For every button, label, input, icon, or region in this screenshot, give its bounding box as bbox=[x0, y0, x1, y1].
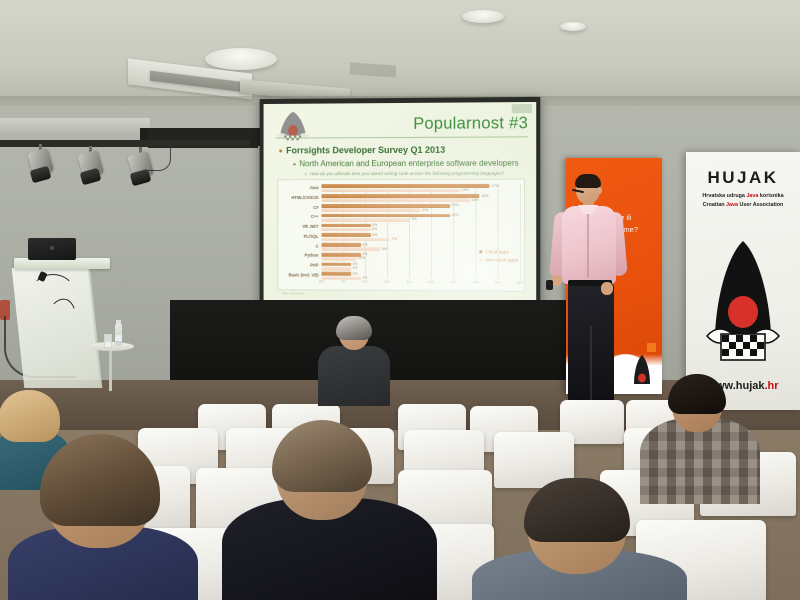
chart-category-label: HTML/CSS/JS bbox=[291, 195, 318, 200]
chart-category-label: PHP bbox=[310, 263, 319, 268]
chart-bar-cloud bbox=[322, 204, 450, 208]
attendee-hair bbox=[336, 316, 372, 340]
bullet-dot-icon bbox=[293, 163, 295, 165]
legend-item-cloud: Cloud apps bbox=[479, 248, 518, 256]
chart-bar-cloud bbox=[322, 233, 371, 237]
attendee-hair bbox=[40, 434, 160, 526]
hujak-duke-logo-icon bbox=[273, 110, 312, 148]
seated-attendee-stage bbox=[316, 318, 392, 404]
chart-x-tick-label: 16% bbox=[494, 281, 501, 285]
slide-bullet-2: North American and European enterprise s… bbox=[293, 159, 519, 169]
chart-plot-area: Java17%14%HTML/CSS/JS16%15%C#13%10%C++13… bbox=[322, 184, 520, 279]
chart-x-tick-label: 10% bbox=[428, 280, 435, 284]
chart-x-tick-label: 18% bbox=[516, 281, 523, 285]
hujak-en-prefix: Croatian bbox=[703, 202, 726, 208]
ceiling-light-icon bbox=[462, 10, 504, 23]
chart-bar-row: HTML/CSS/JS16%15% bbox=[322, 194, 520, 203]
chart-bar-noncloud bbox=[322, 266, 351, 270]
presenter-remote-icon bbox=[546, 280, 553, 290]
ceiling-light-icon bbox=[205, 48, 277, 70]
speaker-shirt bbox=[562, 206, 616, 284]
chart-bar-row: VB .NET5%5% bbox=[322, 223, 520, 233]
legend-label-noncloud: Non-cloud apps bbox=[485, 257, 518, 262]
chart-source-note: Base: developers bbox=[282, 291, 304, 295]
speaker-person bbox=[552, 176, 628, 416]
speaker-right-hand bbox=[601, 282, 613, 295]
chart-value-label: 3% bbox=[352, 272, 357, 276]
attendee-hair bbox=[524, 478, 630, 542]
chart-gridline bbox=[520, 184, 521, 279]
chart-value-label: 15% bbox=[471, 198, 478, 202]
chart-value-label: 4% bbox=[362, 242, 367, 246]
chart-value-label: 6% bbox=[382, 247, 387, 251]
chart-x-tick-label: 0% bbox=[319, 280, 324, 284]
chart-value-label: 17% bbox=[491, 184, 498, 188]
chart-category-label: C# bbox=[313, 205, 318, 210]
chart-value-label: 16% bbox=[481, 194, 488, 198]
speaker-hair bbox=[575, 174, 601, 188]
oracle-corner-logo-icon bbox=[512, 104, 532, 113]
chart-value-label: 5% bbox=[372, 227, 377, 231]
chart-category-label: C++ bbox=[311, 214, 319, 219]
slide-bullet-2-label: North American and European enterprise s… bbox=[299, 159, 518, 169]
chart-x-tick-label: 6% bbox=[385, 280, 390, 284]
stage-spotlight-icon bbox=[28, 144, 54, 182]
speaker-ear bbox=[597, 187, 602, 194]
slide-bullet-1: Forrsights Developer Survey Q1 2013 bbox=[279, 145, 445, 156]
legend-label-cloud: Cloud apps bbox=[485, 249, 509, 254]
chart-x-tick-label: 12% bbox=[450, 280, 457, 284]
legend-item-noncloud: Non-cloud apps bbox=[479, 256, 518, 264]
chart-category-label: Basic (incl. VB) bbox=[289, 272, 319, 277]
chart-bar-row: PL/SQL5%7% bbox=[322, 233, 520, 243]
chart-category-label: Python bbox=[305, 253, 319, 258]
chart-bar-cloud bbox=[322, 194, 480, 198]
wall-soffit bbox=[0, 118, 150, 132]
slide-bullet-3-label: How do you allocate time you spend writi… bbox=[310, 171, 505, 176]
chart-category-label: VB .NET bbox=[302, 224, 318, 229]
laptop-logo-icon bbox=[50, 246, 54, 250]
banner-accent-chip bbox=[647, 343, 656, 352]
drinking-glass-icon bbox=[104, 334, 112, 348]
chart-bar-noncloud bbox=[322, 208, 420, 212]
chart-value-label: 3% bbox=[352, 266, 357, 270]
chart-value-label: 10% bbox=[422, 208, 429, 212]
attendee-grey bbox=[472, 478, 687, 600]
chart-value-label: 7% bbox=[392, 237, 397, 241]
chart-value-label: 13% bbox=[451, 213, 458, 217]
chart-bar-noncloud bbox=[322, 228, 371, 232]
title-divider bbox=[275, 136, 528, 138]
chart-x-axis: 0%2%4%6%8%10%12%14%16%18% bbox=[322, 280, 520, 288]
presentation-photo-scene: Popularnost #3 Forrsights Developer Surv… bbox=[0, 0, 800, 600]
chart-value-label: 3.5% bbox=[357, 256, 365, 260]
survey-bar-chart: Java17%14%HTML/CSS/JS16%15%C#13%10%C++13… bbox=[277, 179, 525, 292]
chart-bar-noncloud bbox=[322, 198, 470, 202]
side-table bbox=[88, 342, 134, 390]
hujak-en-java: Java bbox=[726, 202, 738, 208]
attendee-black-sweater bbox=[222, 420, 437, 600]
chart-bar-noncloud bbox=[322, 247, 381, 251]
chart-category-label: PL/SQL bbox=[304, 234, 319, 239]
spotlight-cable bbox=[148, 146, 171, 171]
chart-bar-noncloud bbox=[322, 218, 411, 222]
chart-category-label: C bbox=[316, 243, 319, 248]
bottle-label bbox=[115, 335, 122, 341]
hujak-subtitle-hr: Hrvatska udruga Java korisnika bbox=[686, 192, 800, 201]
hujak-title: HUJAK bbox=[686, 168, 800, 188]
chart-x-tick-label: 4% bbox=[363, 280, 368, 284]
stage-spotlight-icon bbox=[78, 146, 104, 184]
attendee-hair bbox=[668, 374, 726, 414]
table-leg bbox=[109, 349, 112, 391]
slide-title: Popularnost #3 bbox=[413, 114, 528, 134]
chart-bar-cloud bbox=[322, 272, 351, 276]
chart-value-label: 14% bbox=[461, 188, 468, 192]
chart-x-tick-label: 2% bbox=[341, 280, 346, 284]
chart-x-tick-label: 8% bbox=[407, 280, 412, 284]
hujak-subtitle-en: Croatian Java User Association bbox=[686, 201, 800, 210]
hujak-roll-up-banner: HUJAK Hrvatska udruga Java korisnika Cro… bbox=[686, 152, 800, 410]
shirt-placket bbox=[587, 208, 589, 278]
chart-bar-cloud bbox=[322, 262, 351, 266]
hujak-hr-suffix: korisnika bbox=[758, 193, 783, 199]
chart-category-label: Java bbox=[309, 185, 318, 190]
chart-bar-row: Java17%14% bbox=[322, 184, 520, 193]
chart-x-tick-label: 14% bbox=[472, 280, 479, 284]
chart-bar-cloud bbox=[322, 223, 371, 227]
projection-screen: Popularnost #3 Forrsights Developer Surv… bbox=[260, 97, 541, 311]
bullet-dot-icon bbox=[279, 150, 282, 153]
presentation-slide: Popularnost #3 Forrsights Developer Surv… bbox=[264, 102, 537, 306]
chart-value-label: 9% bbox=[412, 217, 417, 221]
attendee-hair bbox=[272, 420, 372, 492]
chart-bar-noncloud bbox=[322, 189, 460, 193]
legend-swatch-icon bbox=[479, 250, 482, 253]
slide-bullet-3: How do you allocate time you spend writi… bbox=[305, 171, 504, 176]
chart-bar-row: C#13%10% bbox=[322, 204, 520, 213]
attendee-shirt bbox=[318, 346, 390, 406]
hujak-subtitle: Hrvatska udruga Java korisnika Croatian … bbox=[686, 192, 800, 209]
attendee-navy bbox=[8, 438, 198, 600]
chart-legend: Cloud apps Non-cloud apps bbox=[479, 248, 518, 264]
ceiling-light-icon bbox=[560, 22, 586, 31]
chart-bar-noncloud bbox=[322, 237, 391, 241]
hujak-hr-prefix: Hrvatska udruga bbox=[702, 193, 746, 199]
hujak-hr-java: Java bbox=[746, 193, 758, 199]
hujak-url-tld: .hr bbox=[764, 380, 778, 392]
speaker-leg-split bbox=[590, 326, 592, 404]
chart-bar-row: C++13%9% bbox=[322, 213, 520, 222]
hujak-en-suffix: User Association bbox=[738, 202, 783, 208]
legend-swatch-icon bbox=[479, 258, 482, 261]
slide-bullet-1-label: Forrsights Developer Survey Q1 2013 bbox=[286, 145, 445, 156]
bullet-dot-icon bbox=[305, 173, 307, 175]
chart-bar-cloud bbox=[322, 214, 450, 218]
chart-value-label: 5% bbox=[372, 233, 377, 237]
hujak-duke-mascot-icon bbox=[705, 238, 781, 366]
air-vent-icon bbox=[350, 62, 396, 77]
chart-bar-noncloud bbox=[322, 257, 356, 261]
chart-value-label: 13% bbox=[451, 203, 458, 207]
attendee-hair bbox=[0, 390, 60, 442]
